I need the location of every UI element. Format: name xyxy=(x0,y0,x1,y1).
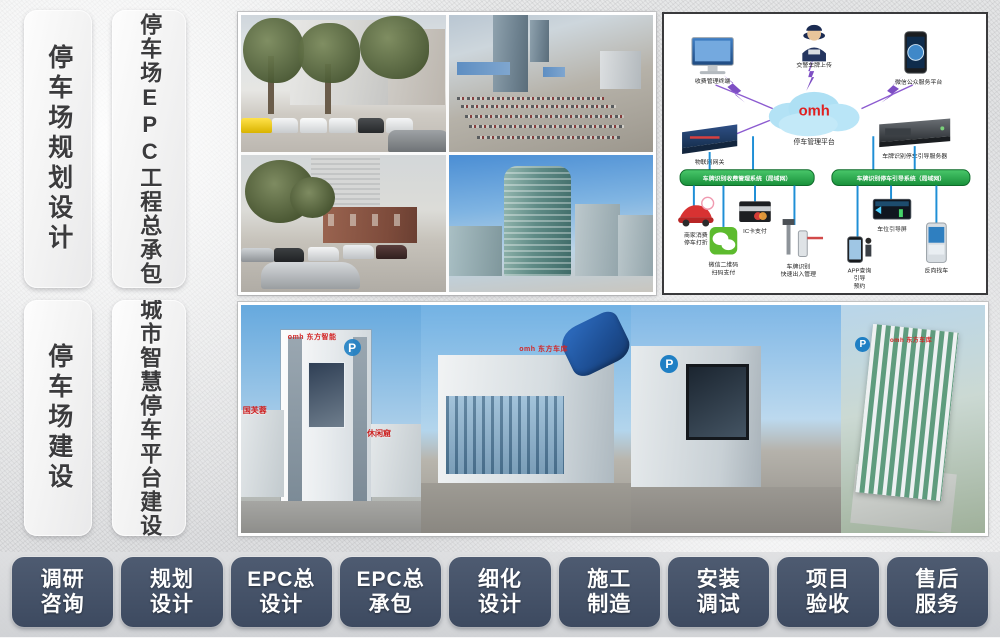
process-step-construction-manufacturing[interactable]: 施工 制造 xyxy=(559,557,660,627)
leaf-label-line2: 快速出入管理 xyxy=(781,270,817,278)
sidebar-card-label: 城市智慧停车平台建设 xyxy=(138,300,160,536)
project-process-steps: 调研 咨询 规划 设计 EPC总 设计 EPC总 承包 细化 设计 施工 制造 … xyxy=(0,546,1000,638)
parked-car xyxy=(272,118,299,133)
car-row xyxy=(461,105,616,108)
leaf-label-line1: APP查询 xyxy=(848,266,872,274)
red-signage: 休闲窟 xyxy=(367,428,391,439)
project-photo-collage xyxy=(238,12,656,295)
tree-canopy xyxy=(298,23,359,83)
node-wechat-public-service-platform: 微信公众服务平台 xyxy=(895,32,942,86)
leaf-label: IC卡支付 xyxy=(743,227,767,235)
billboard xyxy=(308,362,346,428)
led-billboard xyxy=(686,364,749,439)
tower-shape xyxy=(530,20,548,61)
sidebar-card-parking-planning-design[interactable]: 停车场规划设计 xyxy=(24,10,92,288)
sidebar-card-label: 停车场建设 xyxy=(45,343,71,493)
p-parking-icon: P xyxy=(855,337,870,352)
photo-curved-glass-office-tower xyxy=(449,155,654,292)
leaf-label-line1: 微信二维码 xyxy=(709,260,739,268)
side-building xyxy=(618,215,653,275)
street-ground xyxy=(241,501,421,533)
leaf-label-line2: 扫码支付 xyxy=(712,268,736,276)
step-label-line1: 售后 xyxy=(915,568,959,592)
process-step-project-acceptance[interactable]: 项目 验收 xyxy=(777,557,878,627)
leaf-label-line2: 停车打折 xyxy=(684,239,708,247)
parked-car xyxy=(358,118,385,133)
step-label-line2: 承包 xyxy=(369,593,413,617)
leaf-label: 反向找车 xyxy=(925,266,949,274)
render-showroom-with-tilted-car: omh 东方车库 xyxy=(421,305,631,533)
street-ground xyxy=(631,487,841,533)
leaf-ic-card-payment: IC卡支付 xyxy=(739,201,771,235)
red-signage: 国芙蓉 xyxy=(243,405,267,416)
step-label-line2: 制造 xyxy=(587,593,631,617)
brand-logo: omh 东方智能 xyxy=(288,332,337,342)
brick-building xyxy=(323,207,417,243)
leaf-reverse-car-finding: 反向找车 xyxy=(925,223,949,274)
car-row xyxy=(465,115,625,118)
step-label-line2: 设计 xyxy=(478,593,522,617)
render-aerial-green-glass-tower: P omh 东方车库 xyxy=(841,305,985,533)
photo-aerial-parking-lot xyxy=(449,15,654,152)
process-step-after-sales-service[interactable]: 售后 服务 xyxy=(887,557,988,627)
photo-parking-lot-brick-building xyxy=(241,155,446,292)
glass-curtain-wall xyxy=(446,396,564,474)
leaf-label-line3: 预约 xyxy=(854,282,866,290)
process-step-epc-design[interactable]: EPC总 设计 xyxy=(231,557,332,627)
system-architecture-diagram: omh 停车管理平台 收费管理终端 交警车牌上传 微信公众服务平台 xyxy=(662,12,988,295)
sidebar-card-parking-epc-contracting[interactable]: 停车场EPC工程总承包 xyxy=(112,10,186,288)
sidebar-card-parking-construction[interactable]: 停车场建设 xyxy=(24,300,92,536)
facade-stripe xyxy=(353,337,367,501)
step-label-line1: 项目 xyxy=(806,568,850,592)
tree-canopy xyxy=(290,177,335,218)
architectural-render-band: P omh 东方智能 国芙蓉 休闲窟 omh 东方车库 P P omh 东方车库 xyxy=(238,302,988,536)
render-grey-facade-with-billboard: P xyxy=(631,305,841,533)
step-label-line2: 设计 xyxy=(259,593,303,617)
parked-car xyxy=(274,248,305,262)
sidebar-card-label: 停车场规划设计 xyxy=(45,44,71,254)
step-label-line1: EPC总 xyxy=(247,568,315,592)
step-label-line1: 安装 xyxy=(697,568,741,592)
car-row xyxy=(469,125,624,128)
facade-stripe xyxy=(288,337,302,501)
tower-slab xyxy=(855,324,959,501)
parked-car xyxy=(343,245,374,259)
side-building xyxy=(449,226,502,275)
parked-car xyxy=(300,118,327,133)
parked-car xyxy=(388,130,445,152)
sidebar-card-smart-city-parking-platform[interactable]: 城市智慧停车平台建设 xyxy=(112,300,186,536)
cloud-platform-node: omh 停车管理平台 xyxy=(769,92,860,146)
step-label-line1: 细化 xyxy=(478,568,522,592)
node-label: 微信公众服务平台 xyxy=(895,78,942,86)
leaf-merchant-discount: 商家消费 停车打折 xyxy=(678,197,713,246)
car-row xyxy=(457,97,604,100)
brand-logo: omh 东方车库 xyxy=(519,344,568,354)
tower-shape xyxy=(600,51,641,89)
leaf-label: 车位引导屏 xyxy=(877,225,907,233)
car-row xyxy=(477,136,620,139)
render-tower-with-p-sign: P omh 东方智能 国芙蓉 休闲窟 xyxy=(241,305,421,533)
step-label-line1: 调研 xyxy=(41,568,85,592)
p-parking-icon: P xyxy=(344,339,361,356)
node-toll-management-terminal: 收费管理终端 xyxy=(692,38,733,85)
step-label-line2: 验收 xyxy=(806,593,850,617)
step-label-line2: 咨询 xyxy=(41,593,85,617)
leaf-app-query-guidance-booking: APP查询 引导 预约 xyxy=(848,237,872,290)
process-step-planning-design[interactable]: 规划 设计 xyxy=(121,557,222,627)
system-label: 车牌识别停车引导系统（局域网） xyxy=(857,175,946,183)
sidebar-card-label: 停车场EPC工程总承包 xyxy=(138,13,160,286)
step-label-line1: 施工 xyxy=(587,568,631,592)
tree-canopy xyxy=(243,18,304,84)
street-ground xyxy=(421,483,631,533)
node-label: 交警车牌上传 xyxy=(796,61,832,69)
side-building xyxy=(575,204,620,275)
foreground-car xyxy=(261,262,359,289)
process-step-installation-commissioning[interactable]: 安装 调试 xyxy=(668,557,769,627)
step-label-line2: 设计 xyxy=(150,593,194,617)
process-step-epc-contracting[interactable]: EPC总 承包 xyxy=(340,557,441,627)
step-label-line1: 规划 xyxy=(150,568,194,592)
step-label-line2: 服务 xyxy=(915,593,959,617)
brand-logo: omh 东方车库 xyxy=(890,335,932,344)
leaf-space-guidance-screen: 车位引导屏 xyxy=(873,199,910,233)
leaf-label-line1: 车牌识别 xyxy=(787,262,811,270)
parked-car xyxy=(329,118,356,133)
cloud-label: 停车管理平台 xyxy=(793,137,834,146)
system-parking-guidance: 车牌识别停车引导系统（局域网） xyxy=(832,170,970,186)
leaf-label-line1: 商家消费 xyxy=(684,231,708,239)
leaf-wechat-qr-payment: 微信二维码 扫码支付 xyxy=(709,227,739,276)
node-traffic-police-plate-upload: 交警车牌上传 xyxy=(796,25,832,69)
tree-canopy xyxy=(360,16,430,79)
leaf-plate-fast-entry-exit: 车牌识别 快速出入管理 xyxy=(781,219,823,278)
cloud-logo: omh xyxy=(799,104,830,120)
leaf-label-line2: 引导 xyxy=(854,274,866,282)
node-label: 收费管理终端 xyxy=(695,77,731,85)
parked-car xyxy=(308,247,339,261)
parked-car xyxy=(241,118,272,133)
parked-car xyxy=(376,245,407,259)
process-step-survey-consulting[interactable]: 调研 咨询 xyxy=(12,557,113,627)
parked-car xyxy=(241,248,274,262)
system-label: 车牌识别收费管理系统（局域网） xyxy=(703,175,792,183)
photo-street-parking-lot-with-trees xyxy=(241,15,446,152)
glass-tower xyxy=(504,166,571,276)
step-label-line1: EPC总 xyxy=(357,568,425,592)
process-step-detailed-design[interactable]: 细化 设计 xyxy=(449,557,550,627)
step-label-line2: 调试 xyxy=(697,593,741,617)
tower-shape xyxy=(493,15,528,92)
blue-roof xyxy=(457,62,510,76)
blue-roof xyxy=(543,67,565,77)
low-building xyxy=(241,410,284,497)
system-charge-management: 车牌识别收费管理系统（局域网） xyxy=(680,170,814,186)
service-category-sidebar: 停车场规划设计 停车场EPC工程总承包 停车场建设 城市智慧停车平台建设 xyxy=(0,0,232,548)
